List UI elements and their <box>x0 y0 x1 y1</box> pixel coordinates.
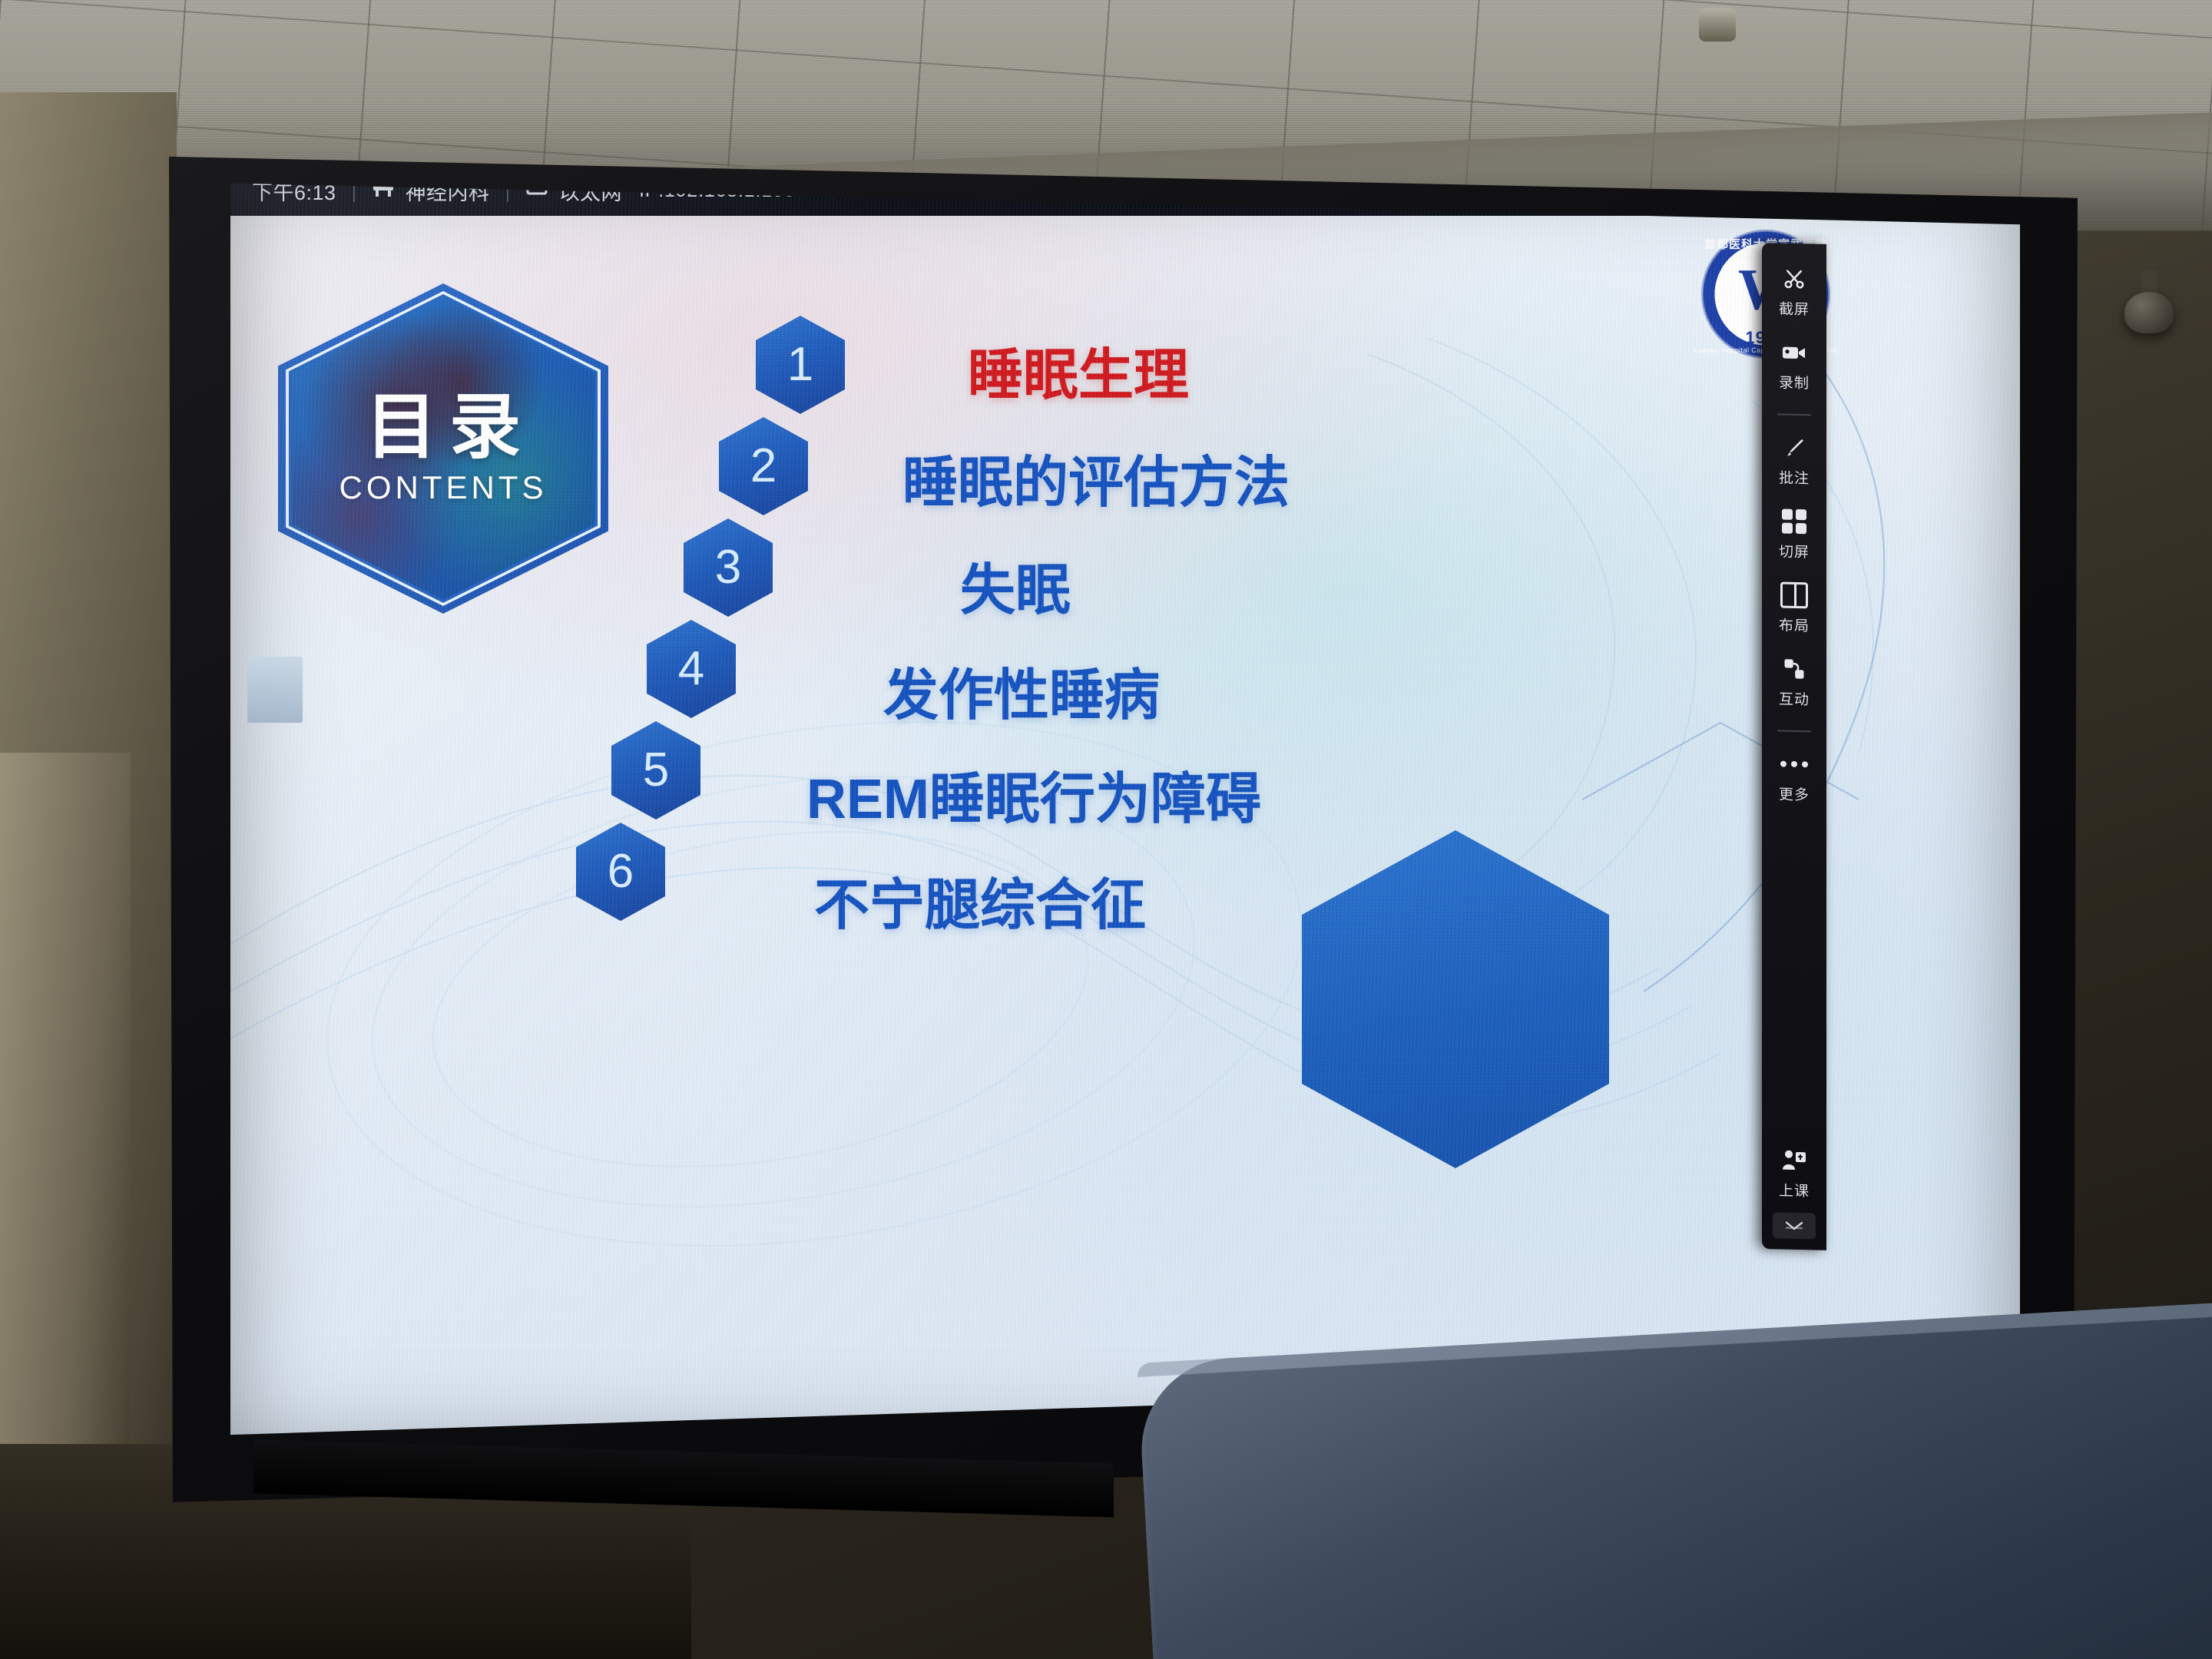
interact-icon <box>1780 655 1808 684</box>
toolbar-item-screenshot[interactable]: 截屏 <box>1762 264 1826 320</box>
contents-badge: 目录 CONTENTS <box>278 283 608 614</box>
toolbar-item-interact[interactable]: 互动 <box>1762 654 1826 710</box>
scissors-icon <box>1780 265 1808 293</box>
toolbar-divider-2 <box>1777 730 1811 732</box>
toolbar-label-startclass: 上课 <box>1779 1179 1810 1200</box>
wall-switch-panel <box>247 657 303 723</box>
contents-item-4[interactable]: 发作性睡病 <box>883 650 1160 730</box>
layout-icon <box>1780 581 1808 610</box>
toolbar-label-screenshot: 截屏 <box>1779 297 1810 319</box>
toolbar-item-annotate[interactable]: 批注 <box>1762 433 1826 488</box>
toolbar-divider-1 <box>1777 413 1811 416</box>
toolbar-item-record[interactable]: 录制 <box>1762 338 1826 393</box>
toolbar-label-interact: 互动 <box>1779 687 1810 709</box>
toolbar-label-record: 录制 <box>1779 371 1810 392</box>
contents-cn-title: 目录 <box>353 392 533 463</box>
toolbar-item-splitscreen[interactable]: 切屏 <box>1762 507 1826 562</box>
toolbar-item-layout[interactable]: 布局 <box>1762 581 1826 636</box>
toolbar-label-splitscreen: 切屏 <box>1779 540 1810 561</box>
contents-item-2[interactable]: 睡眠的评估方法 <box>902 437 1290 518</box>
contents-item-5[interactable]: REM睡眠行为障碍 <box>806 753 1261 834</box>
presentation-slide[interactable]: 首都医科大学宣武医院 W 1958 Xuanwu Hospital Capita… <box>230 216 2020 1455</box>
toolbar-item-startclass[interactable]: 上课 <box>1779 1146 1810 1200</box>
contents-badge-label: 目录 CONTENTS <box>278 283 608 614</box>
contents-item-3[interactable]: 失眠 <box>960 545 1071 625</box>
screenshot-root: 下午6:13 神经内科 以太网 IP:192.168.1.100 <box>0 0 2212 1659</box>
toolbar-label-more: 更多 <box>1779 783 1810 804</box>
more-icon <box>1780 750 1808 779</box>
toolbar-label-layout: 布局 <box>1779 614 1810 635</box>
record-icon <box>1780 339 1808 367</box>
contents-item-6[interactable]: 不宁腿综合征 <box>814 859 1146 940</box>
chevron-down-icon[interactable] <box>1773 1212 1816 1239</box>
toolbar-label-annotate: 批注 <box>1779 466 1810 488</box>
contents-en-title: CONTENTS <box>339 469 548 506</box>
teacher-icon <box>1780 1147 1808 1175</box>
side-toolbar-list: 截屏 录制 <box>1762 243 1826 1250</box>
screen[interactable]: 下午6:13 神经内科 以太网 IP:192.168.1.100 <box>230 165 2020 1455</box>
brush-icon <box>1780 434 1808 462</box>
contents-item-1[interactable]: 睡眠生理 <box>968 329 1189 410</box>
grid-icon <box>1780 508 1808 536</box>
sprinkler-icon <box>1699 8 1736 41</box>
toolbar-item-more[interactable]: 更多 <box>1762 750 1826 805</box>
ceiling-camera-icon <box>2124 292 2174 333</box>
side-toolbar[interactable]: 截屏 录制 <box>1762 243 1826 1250</box>
